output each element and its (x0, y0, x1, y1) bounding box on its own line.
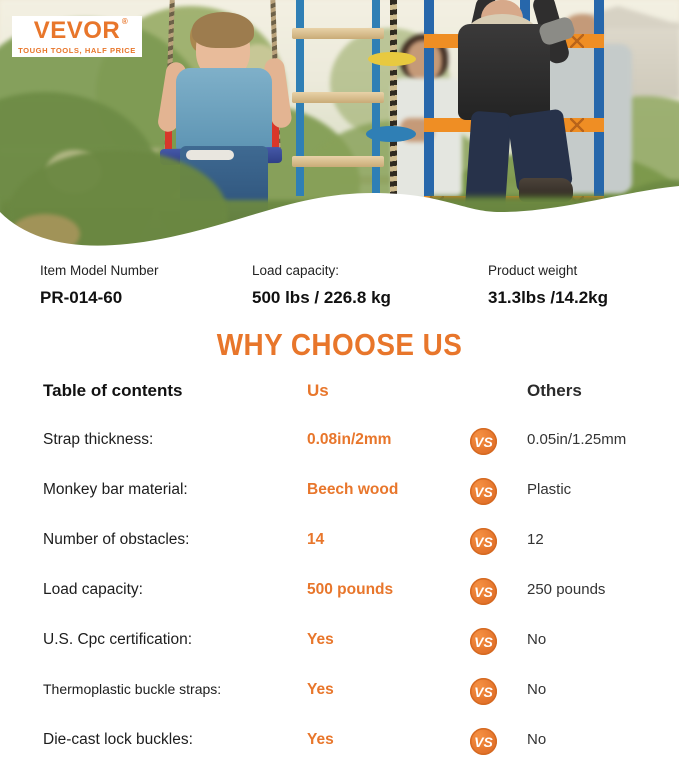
spec-item-product-weight: Product weight 31.3lbs /14.2kg (488, 264, 608, 306)
comparison-table: Table of contents Us Others Strap thickn… (0, 381, 679, 781)
spec-item-load-capacity: Load capacity: 500 lbs / 226.8 kg (252, 264, 391, 306)
row-label: Die-cast lock buckles: (43, 731, 193, 749)
spec-item-model: Item Model Number PR-014-60 (40, 264, 159, 306)
table-row: Number of obstacles: 14 VS 12 (0, 531, 679, 581)
spec-label: Product weight (488, 264, 608, 278)
table-row: Monkey bar material: Beech wood VS Plast… (0, 481, 679, 531)
vs-badge-icon: VS (470, 728, 497, 755)
hero-banner: VEVOR® TOUGH TOOLS, HALF PRICE (0, 0, 679, 250)
row-others-value: 12 (527, 531, 544, 548)
row-us-value: 0.08in/2mm (307, 431, 391, 449)
trademark-icon: ® (122, 18, 128, 26)
row-label: Thermoplastic buckle straps: (43, 681, 221, 697)
climbing-boy-body (458, 24, 550, 120)
ladder-rung (292, 28, 384, 39)
row-us-value: Yes (307, 731, 334, 749)
spec-value: PR-014-60 (40, 289, 159, 306)
rope-disc-yellow (368, 52, 416, 66)
swing-boy-hair (192, 12, 254, 48)
row-us-value: Beech wood (307, 481, 398, 499)
logo-text: VEVOR (34, 17, 121, 44)
row-others-value: Plastic (527, 481, 571, 498)
row-label: U.S. Cpc certification: (43, 631, 192, 649)
row-label: Monkey bar material: (43, 481, 188, 499)
section-heading: WHY CHOOSE US (34, 327, 645, 363)
vs-badge-icon: VS (470, 528, 497, 555)
row-label: Load capacity: (43, 581, 143, 599)
vs-badge-icon: VS (470, 428, 497, 455)
ladder-rung (292, 156, 384, 167)
row-others-value: No (527, 631, 546, 648)
vs-badge-icon: VS (470, 678, 497, 705)
row-us-value: Yes (307, 631, 334, 649)
table-row: Load capacity: 500 pounds VS 250 pounds (0, 581, 679, 631)
row-label: Strap thickness: (43, 431, 153, 449)
row-us-value: 14 (307, 531, 324, 549)
row-us-value: 500 pounds (307, 581, 393, 599)
vevor-logo: VEVOR® TOUGH TOOLS, HALF PRICE (12, 16, 142, 57)
spec-label: Load capacity: (252, 264, 391, 278)
table-header-row: Table of contents Us Others (0, 381, 679, 431)
row-others-value: 250 pounds (527, 581, 605, 598)
ladder-rung (292, 92, 384, 103)
spec-value: 31.3lbs /14.2kg (488, 289, 608, 306)
row-others-value: 0.05in/1.25mm (527, 431, 626, 448)
column-header-us: Us (307, 381, 329, 401)
column-header-others: Others (527, 381, 582, 401)
spec-row: Item Model Number PR-014-60 Load capacit… (0, 252, 679, 312)
table-row: Die-cast lock buckles: Yes VS No (0, 731, 679, 781)
vs-badge-icon: VS (470, 628, 497, 655)
vs-badge-icon: VS (470, 478, 497, 505)
rope-disc-blue (366, 126, 416, 142)
table-row: Strap thickness: 0.08in/2mm VS 0.05in/1.… (0, 431, 679, 481)
wave-divider (0, 178, 679, 250)
spec-label: Item Model Number (40, 264, 159, 278)
net-cross (570, 118, 584, 132)
swing-boy-waistband (186, 150, 234, 160)
vs-badge-icon: VS (470, 578, 497, 605)
table-row: Thermoplastic buckle straps: Yes VS No (0, 681, 679, 731)
logo-tagline: TOUGH TOOLS, HALF PRICE (18, 46, 136, 55)
row-others-value: No (527, 681, 546, 698)
row-label: Number of obstacles: (43, 531, 189, 549)
logo-wordmark: VEVOR® (34, 19, 121, 43)
spec-value: 500 lbs / 226.8 kg (252, 289, 391, 306)
row-others-value: No (527, 731, 546, 748)
row-us-value: Yes (307, 681, 334, 699)
swing-boy-shirt (176, 68, 272, 152)
table-row: U.S. Cpc certification: Yes VS No (0, 631, 679, 681)
column-header-label: Table of contents (43, 381, 182, 401)
